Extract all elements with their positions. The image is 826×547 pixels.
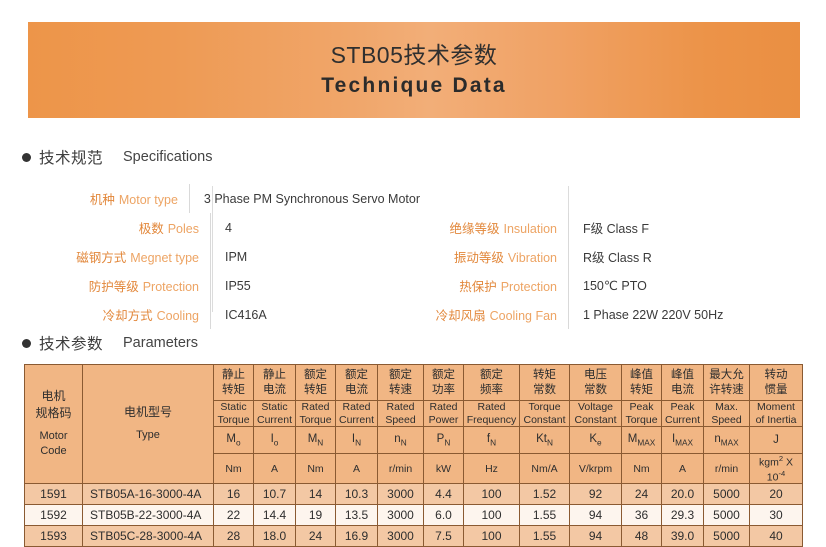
column-header-unit-3: A (336, 454, 378, 484)
spec-value: IC416A (210, 300, 420, 329)
section-heading-en: Parameters (123, 335, 198, 351)
spec-label-cn: 机种 (90, 193, 115, 207)
cell-value-1: 10.7 (254, 484, 296, 505)
column-header-en-9: PeakTorque (622, 401, 662, 427)
cell-motor-code: 1591 (25, 484, 83, 505)
cell-value-9: 48 (622, 526, 662, 547)
spec-label-en: Protection (143, 280, 199, 294)
spec-label-cn: 绝缘等级 (449, 222, 499, 236)
column-header-unit-10: A (662, 454, 704, 484)
cell-value-5: 4.4 (424, 484, 464, 505)
parameters-table: 电机规格码MotorCode电机型号Type静止转矩静止电流额定转矩额定电流额定… (24, 364, 803, 547)
column-header-symbol-12: J (750, 427, 803, 454)
column-header-cn-11: 最大允许转速 (704, 365, 750, 401)
column-header-symbol-6: fN (464, 427, 520, 454)
spec-label-en: Poles (168, 222, 199, 236)
cell-motor-type: STB05C-28-3000-4A (83, 526, 214, 547)
column-header-unit-12: kgm2 X 10-4 (750, 454, 803, 484)
column-header-symbol-3: IN (336, 427, 378, 454)
spec-label-en: Insulation (503, 222, 557, 236)
column-header-unit-5: kW (424, 454, 464, 484)
cell-value-5: 6.0 (424, 505, 464, 526)
header-motor-type: 电机型号Type (83, 365, 214, 484)
cell-motor-code: 1592 (25, 505, 83, 526)
parameters-table-wrap: 电机规格码MotorCode电机型号Type静止转矩静止电流额定转矩额定电流额定… (24, 364, 802, 547)
spec-label-en: Motor type (119, 193, 178, 207)
spec-label-cn: 磁钢方式 (76, 251, 126, 265)
spec-label-en: Vibration (508, 251, 557, 265)
table-row: 1592STB05B-22-3000-4A2214.41913.530006.0… (25, 505, 803, 526)
column-header-en-7: TorqueConstant (520, 401, 570, 427)
column-header-symbol-1: Io (254, 427, 296, 454)
cell-motor-type: STB05B-22-3000-4A (83, 505, 214, 526)
spec-value: 1 Phase 22W 220V 50Hz (568, 300, 810, 329)
column-header-unit-4: r/min (378, 454, 424, 484)
cell-value-7: 1.55 (520, 526, 570, 547)
cell-value-9: 24 (622, 484, 662, 505)
spec-label: 冷却方式Cooling (60, 305, 210, 324)
cell-value-9: 36 (622, 505, 662, 526)
column-header-cn-3: 额定电流 (336, 365, 378, 401)
cell-value-2: 19 (296, 505, 336, 526)
spec-row: 振动等级VibrationR级 Class R (420, 242, 810, 271)
column-header-en-1: StaticCurrent (254, 401, 296, 427)
cell-value-11: 5000 (704, 484, 750, 505)
spec-label-cn: 极数 (139, 222, 164, 236)
spec-label: 振动等级Vibration (420, 247, 568, 266)
page-banner: STB05技术参数 Technique Data (28, 22, 800, 118)
section-heading-specifications: 技术规范 Specifications (22, 146, 212, 168)
spec-row: 绝缘等级InsulationF级 Class F (420, 213, 810, 242)
column-header-symbol-0: Mo (214, 427, 254, 454)
column-header-unit-11: r/min (704, 454, 750, 484)
column-header-symbol-9: MMAX (622, 427, 662, 454)
column-header-cn-12: 转动惯量 (750, 365, 803, 401)
column-header-symbol-11: nMAX (704, 427, 750, 454)
spec-value (568, 184, 810, 213)
cell-value-3: 13.5 (336, 505, 378, 526)
spec-row: 防护等级ProtectionIP55 (60, 271, 420, 300)
specifications-block: 机种Motor type3 Phase PM Synchronous Servo… (0, 184, 826, 316)
bullet-icon (22, 153, 31, 162)
cell-value-2: 24 (296, 526, 336, 547)
spec-label-en: Protection (501, 280, 557, 294)
column-header-en-3: RatedCurrent (336, 401, 378, 427)
header-motor-code: 电机规格码MotorCode (25, 365, 83, 484)
spec-label-cn: 振动等级 (454, 251, 504, 265)
bullet-icon (22, 339, 31, 348)
spec-label-cn: 冷却方式 (103, 309, 153, 323)
section-heading-parameters: 技术参数 Parameters (22, 332, 198, 354)
spec-value: F级 Class F (568, 213, 810, 242)
cell-value-10: 20.0 (662, 484, 704, 505)
cell-value-4: 3000 (378, 505, 424, 526)
cell-value-0: 22 (214, 505, 254, 526)
section-heading-cn: 技术规范 (39, 146, 103, 168)
column-header-en-4: RatedSpeed (378, 401, 424, 427)
column-header-cn-9: 峰值转矩 (622, 365, 662, 401)
column-header-cn-7: 转矩常数 (520, 365, 570, 401)
spec-value: IP55 (210, 271, 420, 300)
column-header-cn-6: 额定频率 (464, 365, 520, 401)
table-row: 1591STB05A-16-3000-4A1610.71410.330004.4… (25, 484, 803, 505)
cell-value-0: 28 (214, 526, 254, 547)
column-header-en-5: RatedPower (424, 401, 464, 427)
section-heading-cn: 技术参数 (39, 332, 103, 354)
table-row: 1593STB05C-28-3000-4A2818.02416.930007.5… (25, 526, 803, 547)
spec-label: 极数Poles (60, 218, 210, 237)
column-header-unit-9: Nm (622, 454, 662, 484)
cell-value-6: 100 (464, 505, 520, 526)
column-header-en-10: PeakCurrent (662, 401, 704, 427)
column-header-cn-1: 静止电流 (254, 365, 296, 401)
spec-value: 150℃ PTO (568, 271, 810, 300)
cell-value-8: 92 (570, 484, 622, 505)
spec-row: 磁钢方式Megnet typeIPM (60, 242, 420, 271)
column-header-cn-0: 静止转矩 (214, 365, 254, 401)
spec-label: 绝缘等级Insulation (420, 218, 568, 237)
spec-row: 热保护Protection150℃ PTO (420, 271, 810, 300)
column-header-unit-1: A (254, 454, 296, 484)
cell-value-11: 5000 (704, 526, 750, 547)
spec-row: 冷却风扇Cooling Fan1 Phase 22W 220V 50Hz (420, 300, 810, 329)
banner-title-en: Technique Data (321, 72, 507, 99)
cell-value-0: 16 (214, 484, 254, 505)
column-header-cn-10: 峰值电流 (662, 365, 704, 401)
spec-label-cn: 防护等级 (89, 280, 139, 294)
spec-label: 机种Motor type (60, 189, 189, 208)
spec-value: 3 Phase PM Synchronous Servo Motor (189, 184, 420, 213)
cell-value-4: 3000 (378, 484, 424, 505)
table-header-row-cn: 电机规格码MotorCode电机型号Type静止转矩静止电流额定转矩额定电流额定… (25, 365, 803, 401)
spec-value: 4 (210, 213, 420, 242)
spec-label: 冷却风扇Cooling Fan (420, 305, 568, 324)
cell-value-10: 29.3 (662, 505, 704, 526)
column-header-en-2: RatedTorque (296, 401, 336, 427)
column-header-en-8: VoltageConstant (570, 401, 622, 427)
spec-label-en: Megnet type (130, 251, 199, 265)
spec-label: 热保护Protection (420, 276, 568, 295)
cell-value-11: 5000 (704, 505, 750, 526)
column-header-cn-4: 额定转速 (378, 365, 424, 401)
cell-value-12: 40 (750, 526, 803, 547)
specifications-column-left: 机种Motor type3 Phase PM Synchronous Servo… (60, 184, 420, 329)
column-header-unit-0: Nm (214, 454, 254, 484)
column-header-cn-2: 额定转矩 (296, 365, 336, 401)
column-header-symbol-4: nN (378, 427, 424, 454)
specifications-column-right: 绝缘等级InsulationF级 Class F振动等级VibrationR级 … (420, 184, 810, 329)
cell-motor-type: STB05A-16-3000-4A (83, 484, 214, 505)
spec-label-en: Cooling Fan (490, 309, 557, 323)
column-header-en-11: Max.Speed (704, 401, 750, 427)
spec-label: 磁钢方式Megnet type (60, 247, 210, 266)
spec-label-cn: 冷却风扇 (436, 309, 486, 323)
cell-value-12: 30 (750, 505, 803, 526)
column-header-unit-7: Nm/A (520, 454, 570, 484)
cell-value-5: 7.5 (424, 526, 464, 547)
column-header-symbol-7: KtN (520, 427, 570, 454)
column-header-en-6: RatedFrequency (464, 401, 520, 427)
cell-value-7: 1.52 (520, 484, 570, 505)
column-header-symbol-5: PN (424, 427, 464, 454)
spec-value: IPM (210, 242, 420, 271)
column-header-unit-8: V/krpm (570, 454, 622, 484)
column-header-en-12: Momentof Inertia (750, 401, 803, 427)
spec-label: 防护等级Protection (60, 276, 210, 295)
cell-value-1: 18.0 (254, 526, 296, 547)
cell-value-12: 20 (750, 484, 803, 505)
cell-value-1: 14.4 (254, 505, 296, 526)
spec-label-en: Cooling (157, 309, 199, 323)
spec-row (420, 184, 810, 213)
cell-motor-code: 1593 (25, 526, 83, 547)
column-header-cn-8: 电压常数 (570, 365, 622, 401)
column-header-symbol-8: Ke (570, 427, 622, 454)
banner-title-cn: STB05技术参数 (331, 41, 498, 70)
column-header-unit-2: Nm (296, 454, 336, 484)
cell-value-6: 100 (464, 526, 520, 547)
column-header-cn-5: 额定功率 (424, 365, 464, 401)
cell-value-6: 100 (464, 484, 520, 505)
cell-value-7: 1.55 (520, 505, 570, 526)
spec-row: 极数Poles4 (60, 213, 420, 242)
cell-value-8: 94 (570, 526, 622, 547)
cell-value-10: 39.0 (662, 526, 704, 547)
cell-value-3: 10.3 (336, 484, 378, 505)
column-header-symbol-2: MN (296, 427, 336, 454)
column-header-symbol-10: IMAX (662, 427, 704, 454)
spec-row: 冷却方式CoolingIC416A (60, 300, 420, 329)
cell-value-3: 16.9 (336, 526, 378, 547)
spec-value: R级 Class R (568, 242, 810, 271)
column-header-en-0: StaticTorque (214, 401, 254, 427)
cell-value-4: 3000 (378, 526, 424, 547)
section-heading-en: Specifications (123, 149, 212, 165)
column-header-unit-6: Hz (464, 454, 520, 484)
spec-row: 机种Motor type3 Phase PM Synchronous Servo… (60, 184, 420, 213)
cell-value-2: 14 (296, 484, 336, 505)
cell-value-8: 94 (570, 505, 622, 526)
spec-label-cn: 热保护 (459, 280, 497, 294)
